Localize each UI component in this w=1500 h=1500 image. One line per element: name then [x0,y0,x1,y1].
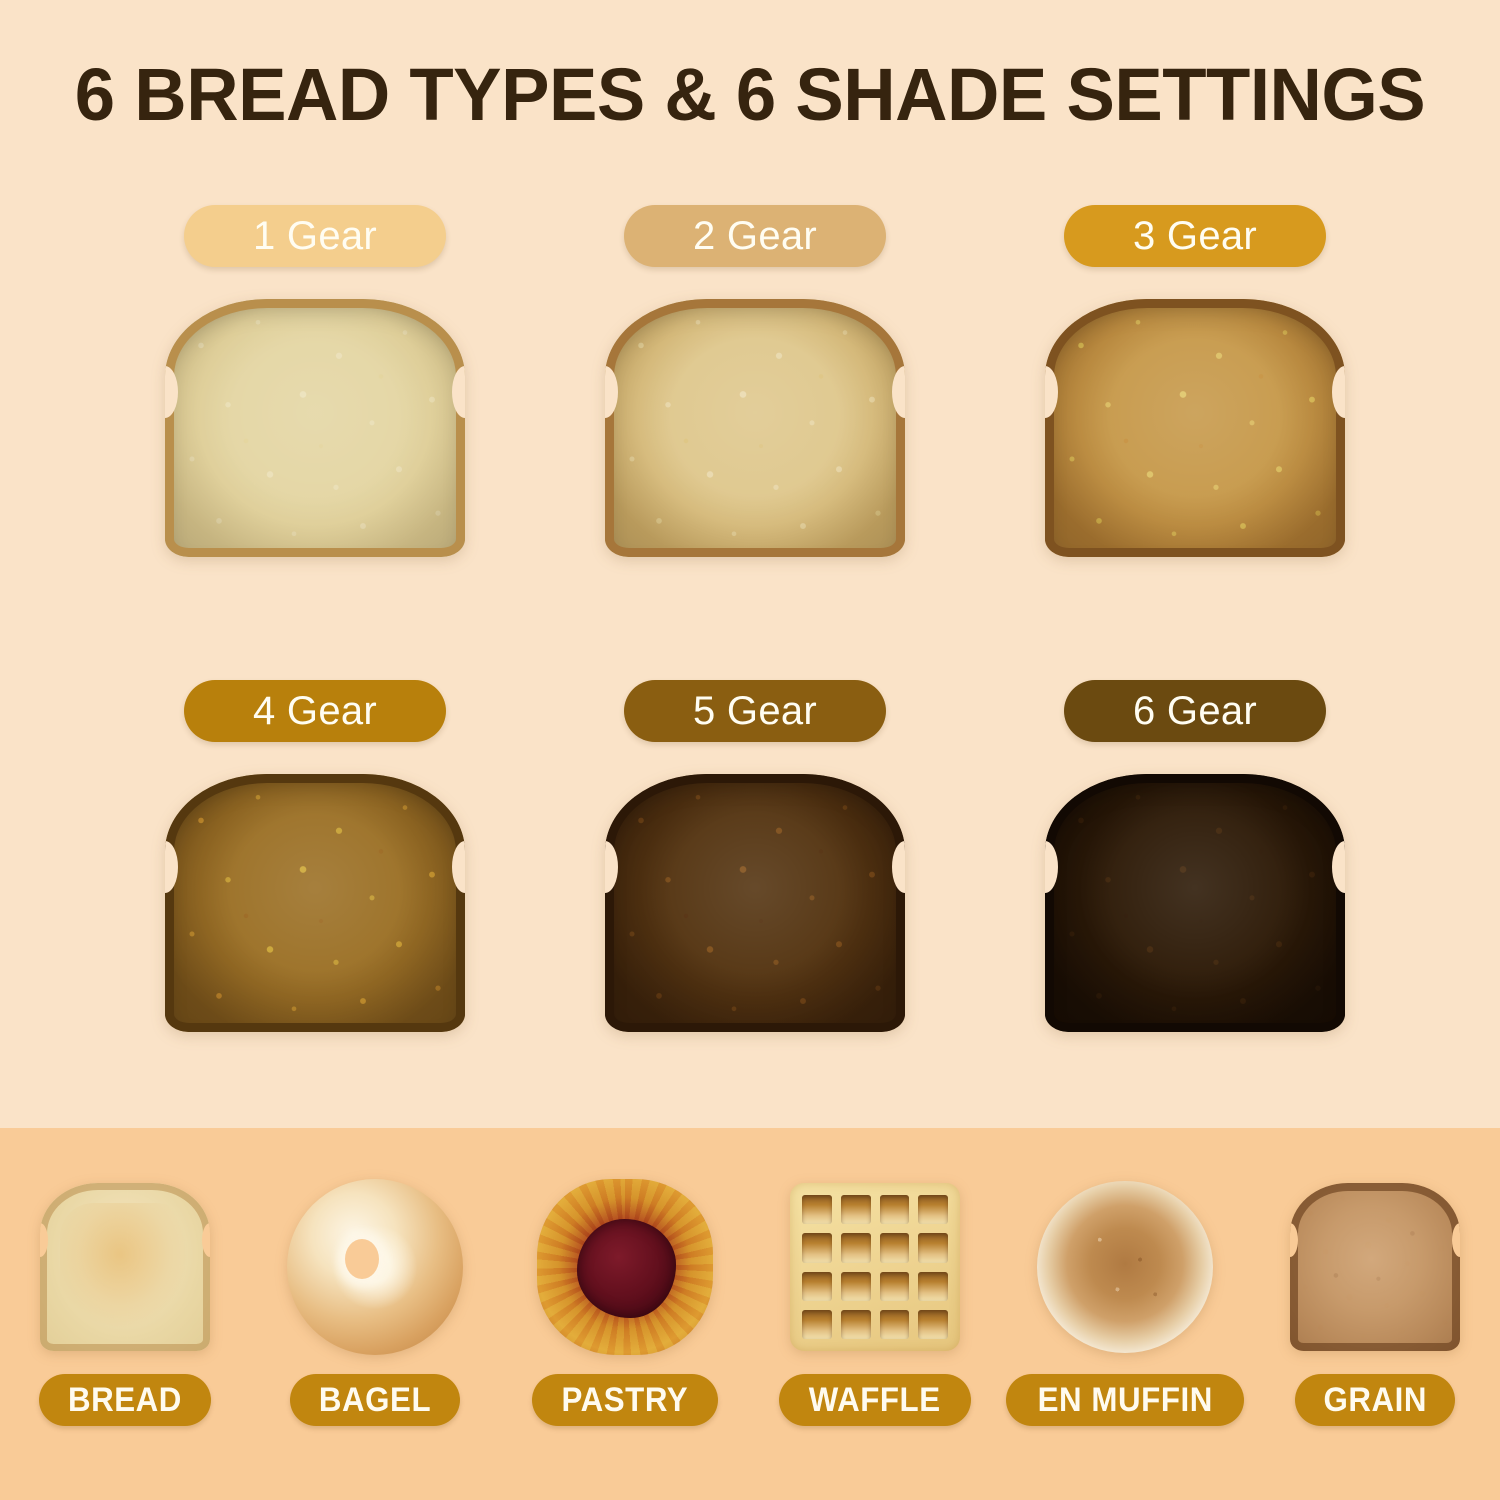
waffle-pocket [802,1233,832,1262]
waffle-pocket [802,1310,832,1339]
waffle-pocket [841,1233,871,1262]
gear-badge-4[interactable]: 4 Gear [184,680,446,742]
waffle-pocket [918,1233,948,1262]
shade-settings-panel: 6 BREAD TYPES & 6 SHADE SETTINGS 1 Gear [0,0,1500,1128]
gear-badge-label-4: 4 Gear [253,689,377,734]
bread-type-pill-pastry[interactable]: PASTRY [532,1374,718,1426]
bagel-icon [275,1176,475,1358]
bread-type-label-bagel: BAGEL [319,1381,431,1420]
toast-slice-shade-6 [1045,774,1345,1032]
gear-badge-5[interactable]: 5 Gear [624,680,886,742]
toast-slice-shade-5 [605,774,905,1032]
grain-slice-icon [1275,1176,1475,1358]
shade-cell-3: 3 Gear [975,205,1415,680]
bread-type-label-grain: GRAIN [1323,1381,1427,1420]
bread-type-label-pastry: PASTRY [562,1381,689,1420]
english-muffin-icon [1025,1176,1225,1358]
bread-types-panel: BREAD BAGEL [0,1128,1500,1500]
waffle-pocket [880,1233,910,1262]
shade-cell-4: 4 Gear [95,680,535,1155]
gear-badge-1[interactable]: 1 Gear [184,205,446,267]
waffle-pocket [880,1272,910,1301]
waffle-pocket [918,1272,948,1301]
gear-badge-label-3: 3 Gear [1133,214,1257,259]
toaster-shade-infographic: 6 BREAD TYPES & 6 SHADE SETTINGS 1 Gear [0,0,1500,1500]
title-bar: 6 BREAD TYPES & 6 SHADE SETTINGS [0,52,1500,137]
gear-badge-label-5: 5 Gear [693,689,817,734]
shade-grid: 1 Gear 2 Gear [95,205,1415,1155]
bread-type-pill-waffle[interactable]: WAFFLE [779,1374,970,1426]
bread-type-label-bread: BREAD [68,1381,182,1420]
gear-badge-2[interactable]: 2 Gear [624,205,886,267]
shade-cell-1: 1 Gear [95,205,535,680]
waffle-pocket [841,1195,871,1224]
waffle-pocket [841,1272,871,1301]
waffle-icon [775,1176,975,1358]
bread-type-pill-bagel[interactable]: BAGEL [290,1374,460,1426]
gear-badge-3[interactable]: 3 Gear [1064,205,1326,267]
page-title: 6 BREAD TYPES & 6 SHADE SETTINGS [15,52,1485,137]
bread-slice-icon [25,1176,225,1358]
bread-type-bagel[interactable]: BAGEL [250,1128,500,1500]
waffle-pocket [841,1310,871,1339]
gear-badge-label-6: 6 Gear [1133,689,1257,734]
waffle-pocket [880,1195,910,1224]
shade-cell-5: 5 Gear [535,680,975,1155]
bread-type-pill-grain[interactable]: GRAIN [1295,1374,1456,1426]
waffle-pocket [918,1195,948,1224]
shade-cell-6: 6 Gear [975,680,1415,1155]
bread-type-pill-en-muffin[interactable]: EN MUFFIN [1006,1374,1245,1426]
shade-cell-2: 2 Gear [535,205,975,680]
toast-slice-shade-4 [165,774,465,1032]
bread-types-row: BREAD BAGEL [0,1128,1500,1500]
waffle-pocket [802,1195,832,1224]
toast-slice-shade-2 [605,299,905,557]
gear-badge-label-1: 1 Gear [253,214,377,259]
bread-type-bread[interactable]: BREAD [0,1128,250,1500]
waffle-pocket [802,1272,832,1301]
bread-type-pastry[interactable]: PASTRY [500,1128,750,1500]
toast-slice-shade-1 [165,299,465,557]
gear-badge-6[interactable]: 6 Gear [1064,680,1326,742]
gear-badge-label-2: 2 Gear [693,214,817,259]
bread-type-waffle[interactable]: WAFFLE [750,1128,1000,1500]
waffle-pocket [918,1310,948,1339]
bread-type-pill-bread[interactable]: BREAD [39,1374,211,1426]
waffle-pocket [880,1310,910,1339]
pastry-icon [525,1176,725,1358]
bread-type-grain[interactable]: GRAIN [1250,1128,1500,1500]
bread-type-label-en-muffin: EN MUFFIN [1037,1381,1212,1420]
toast-slice-shade-3 [1045,299,1345,557]
bread-type-label-waffle: WAFFLE [809,1381,941,1420]
bread-type-en-muffin[interactable]: EN MUFFIN [1000,1128,1250,1500]
